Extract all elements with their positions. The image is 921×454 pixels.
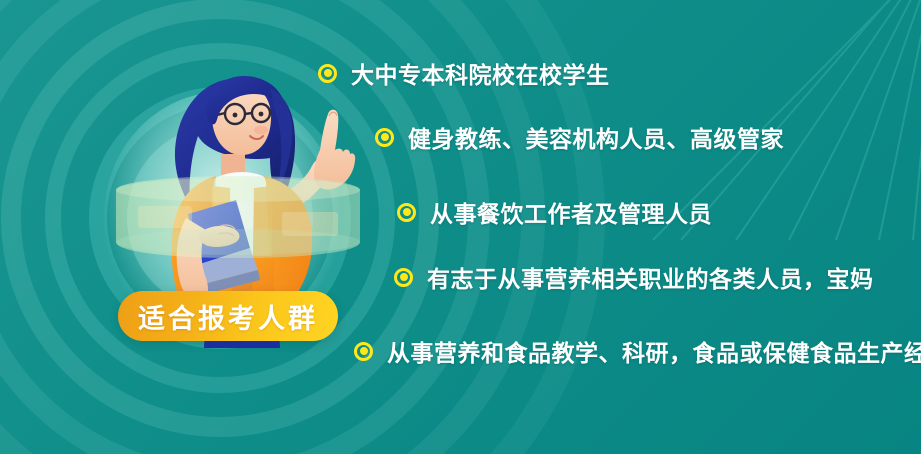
ring-dot-icon bbox=[394, 268, 413, 287]
promo-banner: 适合报考人群 大中专本科院校在校学生 健身教练、美容机构人员、高级管家 从事餐饮… bbox=[0, 0, 921, 454]
ring-dot-icon bbox=[318, 64, 337, 83]
list-item: 健身教练、美容机构人员、高级管家 bbox=[375, 120, 784, 154]
list-item-label: 有志于从事营养相关职业的各类人员，宝妈 bbox=[427, 260, 874, 294]
list-item-label: 健身教练、美容机构人员、高级管家 bbox=[408, 120, 784, 154]
list-item-label: 从事餐饮工作者及管理人员 bbox=[430, 195, 712, 229]
list-item: 有志于从事营养相关职业的各类人员，宝妈 bbox=[394, 260, 874, 294]
list-item: 从事营养和食品教学、科研，食品或保健食品生产经营 bbox=[354, 334, 921, 368]
ring-dot-icon bbox=[397, 203, 416, 222]
list-item-label: 大中专本科院校在校学生 bbox=[351, 56, 610, 90]
list-item: 大中专本科院校在校学生 bbox=[318, 56, 610, 90]
ring-dot-icon bbox=[375, 128, 394, 147]
list-item-label: 从事营养和食品教学、科研，食品或保健食品生产经营 bbox=[387, 334, 921, 368]
audience-list: 大中专本科院校在校学生 健身教练、美容机构人员、高级管家 从事餐饮工作者及管理人… bbox=[0, 0, 921, 454]
list-item: 从事餐饮工作者及管理人员 bbox=[397, 195, 712, 229]
ring-dot-icon bbox=[354, 342, 373, 361]
